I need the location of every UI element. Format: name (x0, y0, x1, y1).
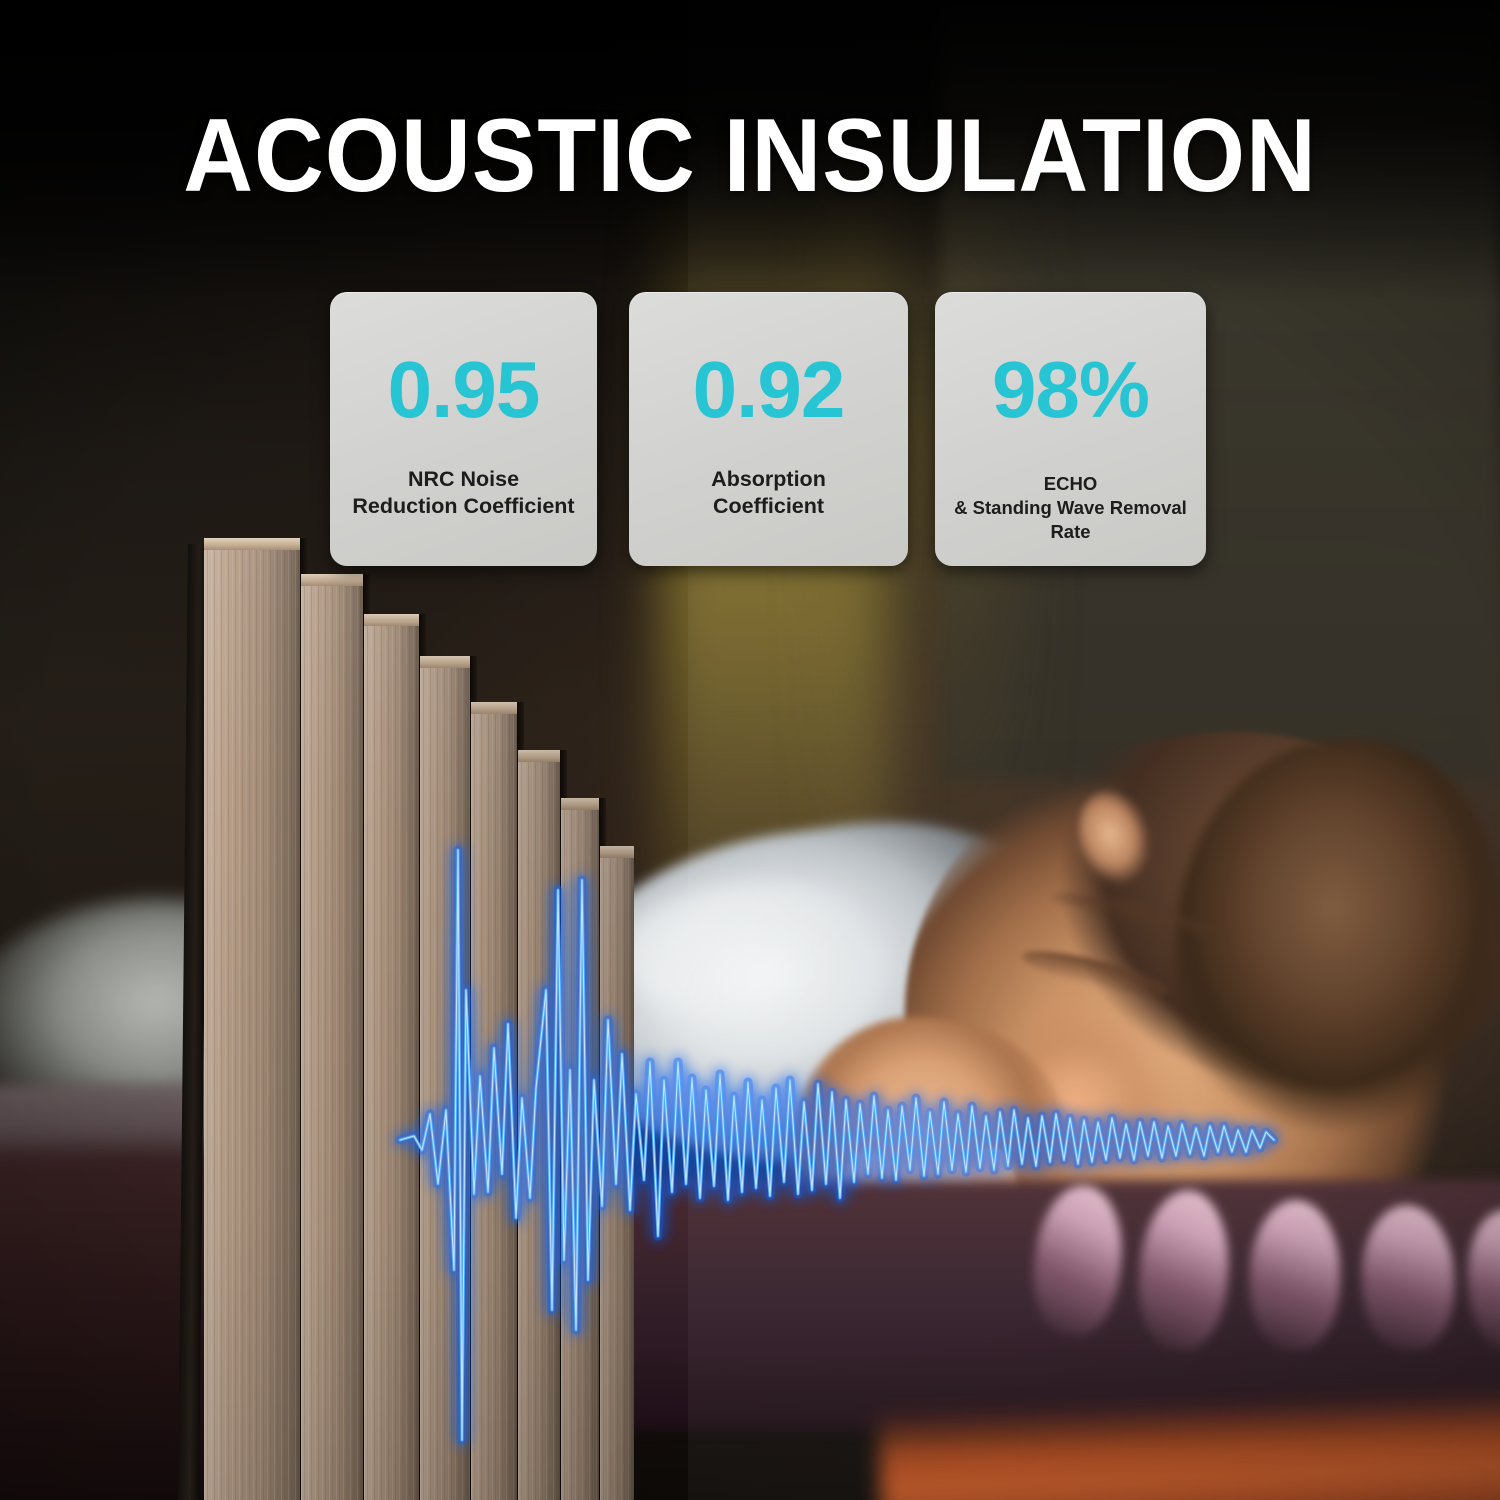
slat-top-cap (301, 574, 363, 586)
page-title: ACOUSTIC INSULATION (53, 104, 1448, 208)
slat-top-cap (204, 538, 300, 550)
wood-slat (301, 574, 363, 1500)
echo-label: ECHO & Standing Wave Removal Rate (943, 472, 1198, 544)
echo-value: 98% (992, 350, 1149, 430)
acoustic-insulation-infographic: 0.95 NRC Noise Reduction Coefficient 0.9… (0, 0, 1500, 1500)
absorption-card[interactable]: 0.92 Absorption Coefficient (629, 292, 908, 566)
stat-card-row: 0.95 NRC Noise Reduction Coefficient 0.9… (330, 292, 1206, 566)
nrc-card[interactable]: 0.95 NRC Noise Reduction Coefficient (330, 292, 597, 566)
slat-top-cap (364, 614, 419, 626)
wood-slat (204, 538, 300, 1500)
nrc-value: 0.95 (388, 350, 540, 430)
sound-wave-attenuation (400, 840, 1300, 1320)
slat-top-cap (561, 798, 599, 810)
echo-card[interactable]: 98% ECHO & Standing Wave Removal Rate (935, 292, 1206, 566)
absorption-value: 0.92 (693, 350, 845, 430)
nrc-label: NRC Noise Reduction Coefficient (352, 466, 574, 521)
slat-top-cap (471, 702, 517, 714)
slat-top-cap (518, 750, 560, 762)
absorption-label: Absorption Coefficient (711, 466, 826, 521)
slat-top-cap (420, 656, 470, 668)
